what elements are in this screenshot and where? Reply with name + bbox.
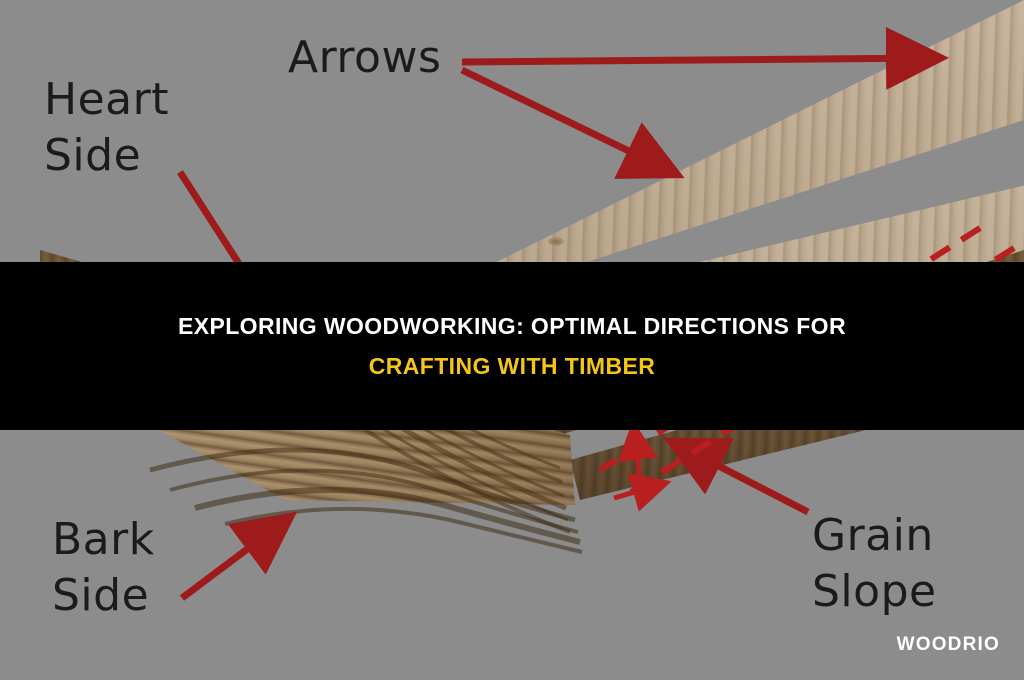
watermark-logo: WOODRIO bbox=[897, 634, 1000, 656]
caption-line-2: CRAFTING WITH TIMBER bbox=[369, 346, 656, 386]
label-arrows: Arrows bbox=[288, 30, 441, 86]
caption-overlay: EXPLORING WOODWORKING: OPTIMAL DIRECTION… bbox=[0, 262, 1024, 430]
label-bark-side: Bark Side bbox=[52, 512, 155, 624]
knot-mark bbox=[548, 237, 564, 246]
label-heart-side: Heart Side bbox=[44, 72, 169, 184]
caption-line-1: EXPLORING WOODWORKING: OPTIMAL DIRECTION… bbox=[178, 306, 846, 346]
label-grain-slope: Grain Slope bbox=[812, 508, 937, 620]
image-canvas: Heart Side Arrows Bark Side Grain Slope … bbox=[0, 0, 1024, 680]
